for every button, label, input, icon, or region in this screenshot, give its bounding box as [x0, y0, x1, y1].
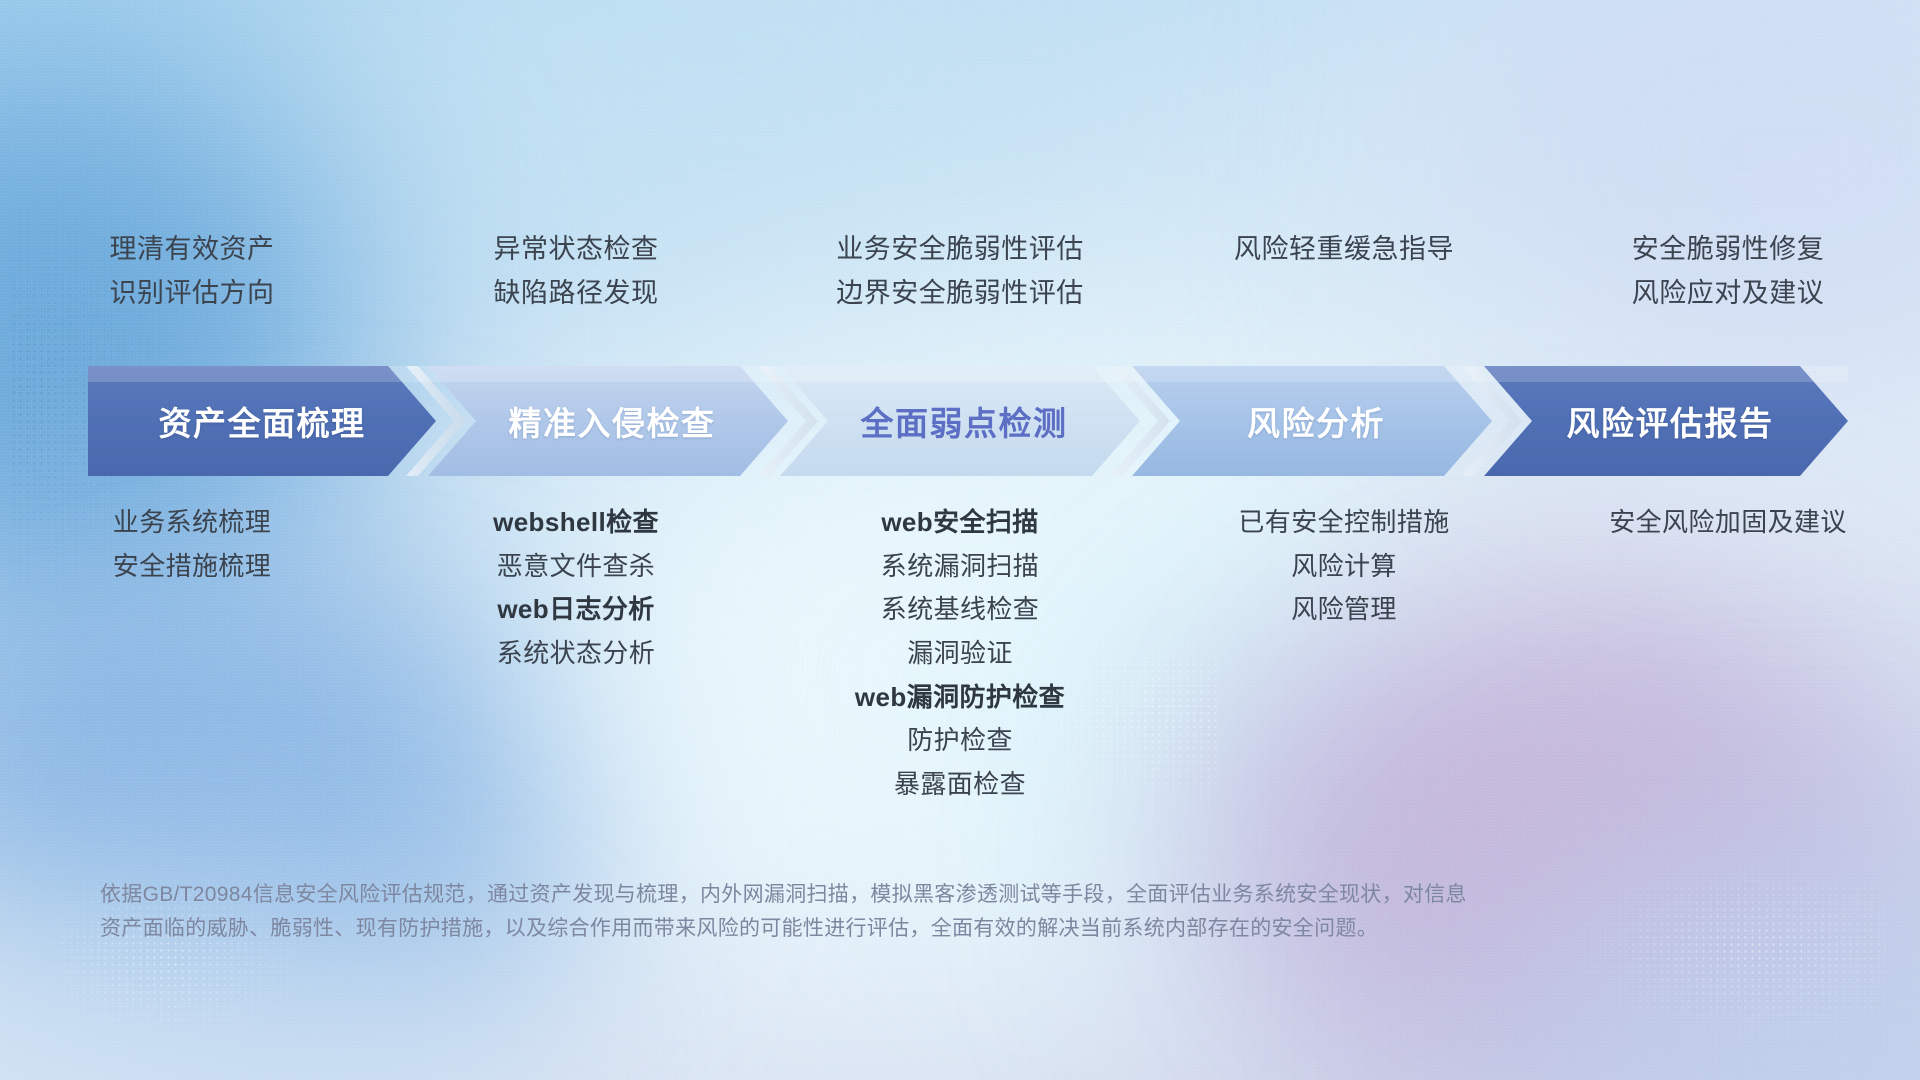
stage-chevron-banner: 资产全面梳理 精准入侵检查 全面弱点检测 风险分析 风险评估报告	[88, 366, 1848, 476]
task-item: 已有安全控制措施	[1238, 508, 1449, 538]
top-col-assessment-report: 安全脆弱性修复 风险应对及建议	[1536, 228, 1920, 358]
top-item: 安全脆弱性修复	[1632, 234, 1825, 264]
top-col-risk-analysis: 风险轻重缓急指导	[1152, 228, 1536, 358]
top-col-weakness-detection: 业务安全脆弱性评估 边界安全脆弱性评估	[768, 228, 1152, 358]
chevron-shape-asset-inventory	[88, 366, 436, 476]
bottom-col-intrusion-check: webshell检查 恶意文件查杀 web日志分析 系统状态分析	[384, 498, 768, 858]
task-item: 安全措施梳理	[113, 552, 271, 582]
top-item: 异常状态检查	[494, 234, 659, 264]
top-col-asset-inventory: 理清有效资产 识别评估方向	[0, 228, 384, 358]
task-item: 系统状态分析	[497, 639, 655, 669]
top-item: 风险应对及建议	[1632, 278, 1825, 308]
task-item: 漏洞验证	[907, 639, 1013, 669]
top-item: 风险轻重缓急指导	[1234, 234, 1454, 264]
task-item: 系统基线检查	[881, 595, 1039, 625]
task-item: 系统漏洞扫描	[881, 552, 1039, 582]
task-item: web日志分析	[497, 595, 654, 625]
top-item: 理清有效资产	[110, 234, 275, 264]
top-outcome-row: 理清有效资产 识别评估方向 异常状态检查 缺陷路径发现 业务安全脆弱性评估 边界…	[0, 228, 1920, 358]
task-item: 暴露面检查	[894, 770, 1026, 800]
top-col-intrusion-check: 异常状态检查 缺陷路径发现	[384, 228, 768, 358]
top-item: 边界安全脆弱性评估	[836, 278, 1084, 308]
footer-description: 依据GB/T20984信息安全风险评估规范，通过资产发现与梳理，内外网漏洞扫描，…	[100, 878, 1640, 946]
bottom-col-risk-analysis: 已有安全控制措施 风险计算 风险管理	[1152, 498, 1536, 858]
chevron-shapes	[88, 366, 1848, 476]
task-item: web安全扫描	[881, 508, 1038, 538]
chevron-shape-assessment-report	[1484, 366, 1848, 476]
task-item: 恶意文件查杀	[497, 552, 655, 582]
task-item: 安全风险加固及建议	[1609, 508, 1847, 538]
top-item: 业务安全脆弱性评估	[836, 234, 1084, 264]
task-item: web漏洞防护检查	[855, 683, 1065, 713]
footer-line-2: 资产面临的威胁、脆弱性、现有防护措施，以及综合作用而带来风险的可能性进行评估，全…	[100, 912, 1640, 946]
task-item: 风险管理	[1291, 595, 1397, 625]
task-item: 业务系统梳理	[113, 508, 271, 538]
bottom-col-assessment-report: 安全风险加固及建议	[1536, 498, 1920, 858]
bottom-task-row: 业务系统梳理 安全措施梳理 webshell检查 恶意文件查杀 web日志分析 …	[0, 498, 1920, 858]
task-item: webshell检查	[493, 508, 659, 538]
top-item: 缺陷路径发现	[494, 278, 659, 308]
bottom-col-weakness-detection: web安全扫描 系统漏洞扫描 系统基线检查 漏洞验证 web漏洞防护检查 防护检…	[768, 498, 1152, 858]
task-item: 风险计算	[1291, 552, 1397, 582]
chevron-shape-weakness-detection	[780, 366, 1140, 476]
chevron-shape-risk-analysis	[1132, 366, 1492, 476]
top-item: 识别评估方向	[110, 278, 275, 308]
process-diagram: 理清有效资产 识别评估方向 异常状态检查 缺陷路径发现 业务安全脆弱性评估 边界…	[0, 0, 1920, 1080]
footer-line-1: 依据GB/T20984信息安全风险评估规范，通过资产发现与梳理，内外网漏洞扫描，…	[100, 878, 1640, 912]
bottom-col-asset-inventory: 业务系统梳理 安全措施梳理	[0, 498, 384, 858]
chevron-shape-intrusion-check	[428, 366, 788, 476]
task-item: 防护检查	[907, 726, 1013, 756]
